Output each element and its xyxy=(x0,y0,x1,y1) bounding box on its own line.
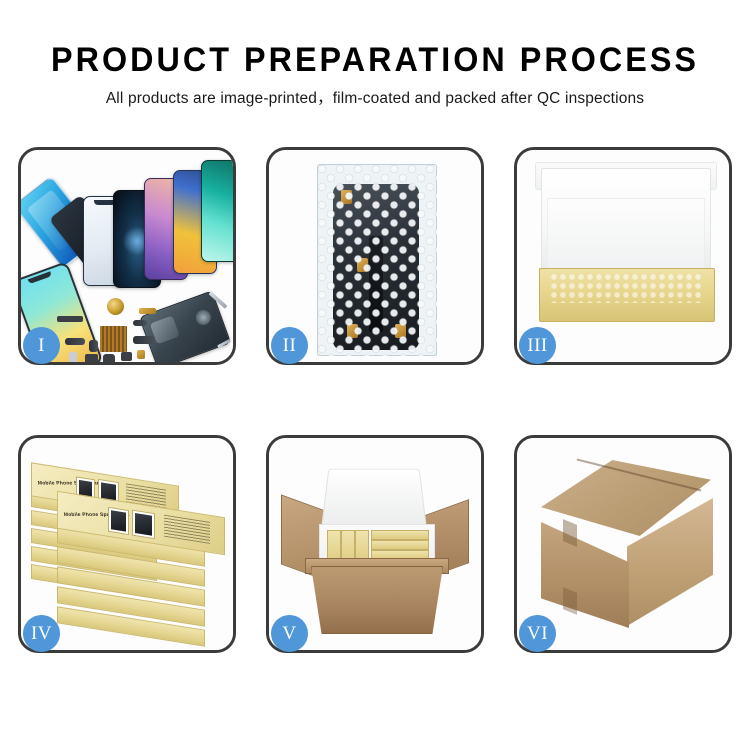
ribbon-cable-part-icon xyxy=(133,336,155,344)
kraft-tray xyxy=(539,268,715,322)
sim-tray-part-icon xyxy=(69,352,77,362)
product-preparation-infographic: PRODUCT PREPARATION PROCESS All products… xyxy=(0,0,750,750)
packed-box xyxy=(371,540,429,550)
foam-sheet xyxy=(547,198,705,272)
carton-front-face xyxy=(541,522,629,628)
process-step-3: III xyxy=(514,147,732,365)
flex-cable-part-icon xyxy=(133,320,147,326)
step-badge-5: V xyxy=(271,615,308,652)
styrofoam-lid xyxy=(321,469,427,528)
step-badge-4: IV xyxy=(23,615,60,652)
process-step-4: Mobile Phone Spare Parts Mobile Phone Sp… xyxy=(18,435,236,653)
process-steps-grid: I II xyxy=(18,147,732,653)
page-subtitle: All products are image-printed，film-coat… xyxy=(0,89,750,109)
gold-contact-part-icon xyxy=(139,308,156,314)
phone-screen-green-icon xyxy=(201,160,233,262)
step-badge-2: II xyxy=(271,327,308,364)
bubble-highlight-layer xyxy=(317,164,437,356)
button-part-icon xyxy=(121,352,132,361)
bubble-wrapped-contents xyxy=(550,273,704,303)
battery-connector-part-icon xyxy=(57,316,83,322)
page-title: PRODUCT PREPARATION PROCESS xyxy=(19,40,732,80)
box-print-text-lines xyxy=(164,515,210,544)
step-badge-1: I xyxy=(23,327,60,364)
small-module-part-icon xyxy=(89,340,98,352)
box-window xyxy=(108,507,129,535)
step-badge-3: III xyxy=(519,327,556,364)
carton-body xyxy=(311,566,443,634)
speaker-part-icon xyxy=(107,298,124,315)
packed-box xyxy=(371,530,429,540)
vibration-motor-part-icon xyxy=(103,354,115,362)
step-badge-6: VI xyxy=(519,615,556,652)
camera-part-icon xyxy=(85,354,98,362)
process-step-1: I xyxy=(18,147,236,365)
gold-bracket-part-icon xyxy=(137,350,145,359)
header: PRODUCT PREPARATION PROCESS All products… xyxy=(0,0,750,109)
box-window xyxy=(132,510,155,540)
bubble-wrap-bag xyxy=(317,164,437,356)
flex-cable-part-icon xyxy=(65,338,85,345)
process-step-5: V xyxy=(266,435,484,653)
process-step-6: VI xyxy=(514,435,732,653)
carton-tape-lower xyxy=(563,587,577,615)
process-step-2: II xyxy=(266,147,484,365)
chip-grid-part-icon xyxy=(100,326,127,352)
